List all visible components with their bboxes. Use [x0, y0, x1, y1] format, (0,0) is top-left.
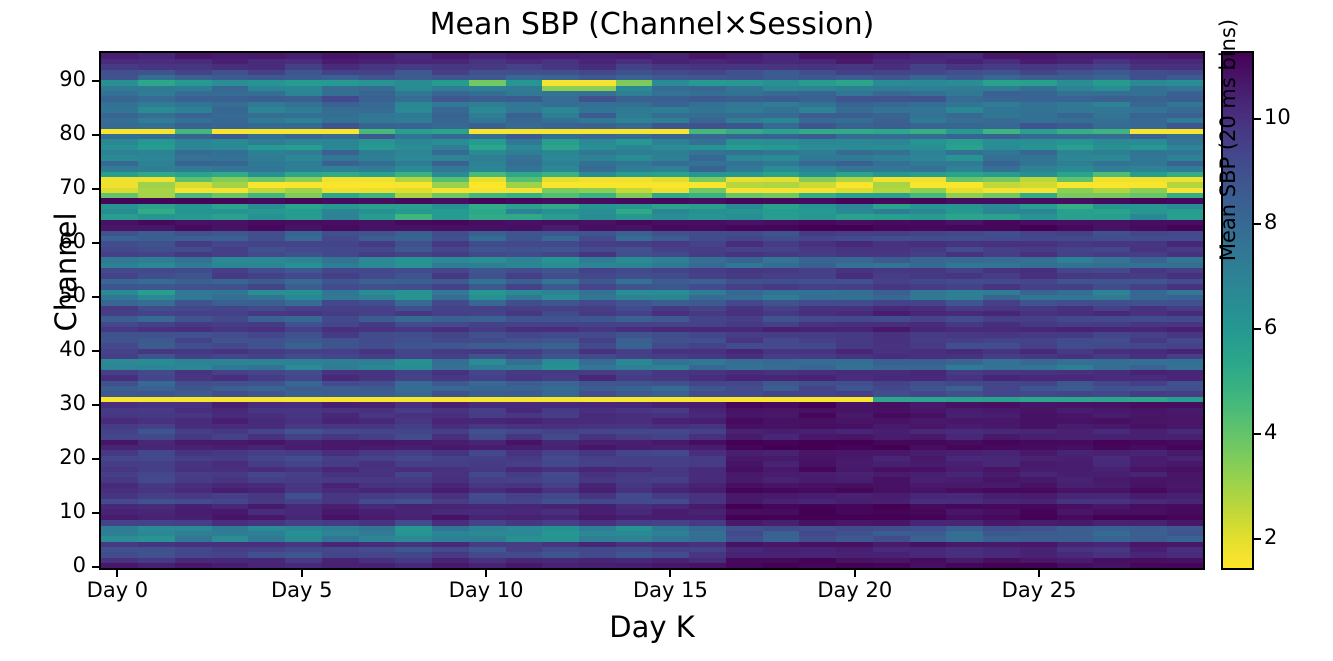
y-tick-mark — [92, 188, 99, 190]
y-tick-mark — [92, 80, 99, 82]
colorbar-tick-label: 2 — [1264, 525, 1277, 549]
y-tick-mark — [92, 242, 99, 244]
y-tick-label: 80 — [59, 121, 86, 145]
colorbar-tick-label: 4 — [1264, 420, 1277, 444]
x-tick-label: Day 25 — [979, 578, 1099, 602]
y-tick-label: 30 — [59, 391, 86, 415]
colorbar-label: Mean SBP (20 ms bins) — [1216, 0, 1240, 290]
x-tick-label: Day 15 — [610, 578, 730, 602]
y-tick-label: 10 — [59, 499, 86, 523]
x-tick-mark — [301, 570, 303, 577]
x-tick-mark — [116, 570, 118, 577]
y-tick-mark — [92, 134, 99, 136]
heatmap-image — [101, 53, 1203, 568]
y-axis-label: Channel — [49, 192, 83, 352]
colorbar-tick-label: 10 — [1264, 105, 1291, 129]
x-tick-label: Day 10 — [426, 578, 546, 602]
x-tick-label: Day 20 — [795, 578, 915, 602]
colorbar-tick-mark — [1254, 223, 1261, 225]
colorbar-tick-mark — [1254, 118, 1261, 120]
x-tick-mark — [854, 570, 856, 577]
colorbar-tick-mark — [1254, 328, 1261, 330]
y-tick-label: 20 — [59, 445, 86, 469]
y-tick-mark — [92, 404, 99, 406]
y-tick-mark — [92, 458, 99, 460]
x-tick-mark — [669, 570, 671, 577]
x-tick-label: Day 0 — [57, 578, 177, 602]
y-tick-mark — [92, 350, 99, 352]
heatmap-plot-area[interactable] — [99, 51, 1205, 570]
colorbar-tick-mark — [1254, 538, 1261, 540]
y-tick-label: 60 — [59, 229, 86, 253]
colorbar-tick-label: 8 — [1264, 210, 1277, 234]
figure-canvas: Mean SBP (Channel×Session) Channel Day K… — [0, 0, 1333, 661]
y-tick-label: 50 — [59, 283, 86, 307]
y-tick-label: 40 — [59, 337, 86, 361]
y-tick-mark — [92, 296, 99, 298]
y-tick-label: 70 — [59, 175, 86, 199]
x-tick-mark — [485, 570, 487, 577]
x-tick-label: Day 5 — [242, 578, 362, 602]
x-tick-mark — [1038, 570, 1040, 577]
y-tick-label: 90 — [59, 67, 86, 91]
y-tick-mark — [92, 512, 99, 514]
colorbar-tick-label: 6 — [1264, 315, 1277, 339]
y-tick-label: 0 — [73, 553, 86, 577]
chart-title: Mean SBP (Channel×Session) — [99, 6, 1205, 44]
y-tick-mark — [92, 566, 99, 568]
x-axis-label: Day K — [99, 610, 1205, 644]
colorbar-tick-mark — [1254, 433, 1261, 435]
